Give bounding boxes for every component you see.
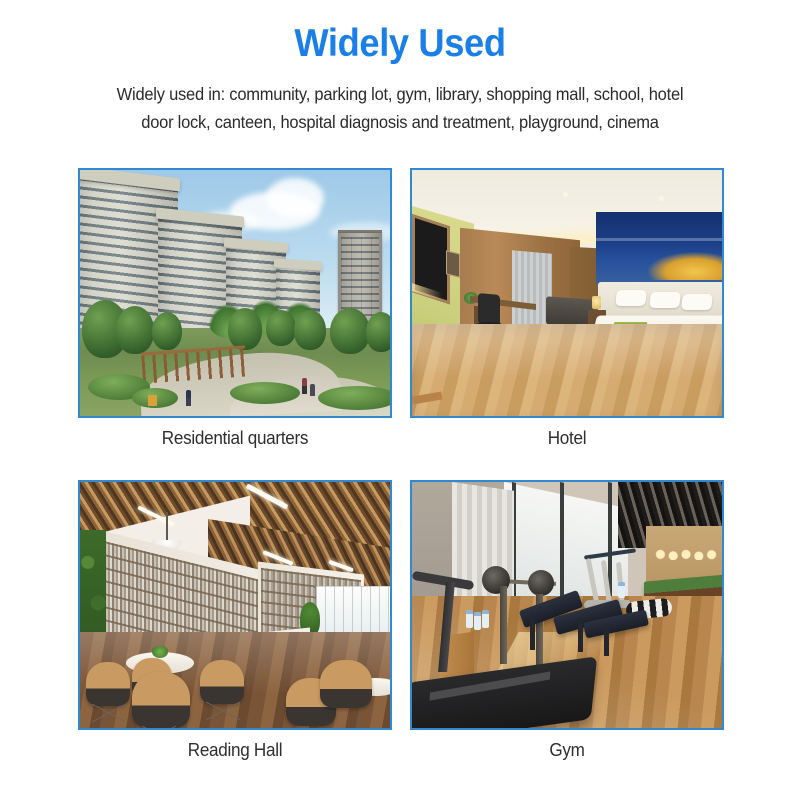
reading-chair	[200, 660, 244, 704]
cloud-icon	[266, 178, 324, 218]
tree	[228, 308, 262, 350]
person	[186, 390, 191, 406]
pillow	[615, 290, 647, 306]
residential-quarters-photo	[80, 170, 390, 416]
subtitle-line-1: Widely used in: community, parking lot, …	[64, 81, 736, 109]
bedside-lamp	[592, 296, 601, 309]
bench-leg	[530, 614, 535, 650]
reading-hall-photo	[80, 482, 390, 728]
water-bottle	[482, 610, 489, 628]
office-chair	[478, 293, 500, 325]
planter	[148, 395, 157, 406]
armchair	[546, 296, 594, 327]
pillow	[681, 294, 713, 310]
tree	[266, 310, 296, 346]
application-gallery: Residential quarters	[78, 168, 724, 761]
hedge	[318, 386, 390, 410]
gallery-caption-reading-hall: Reading Hall	[86, 740, 384, 761]
page-subtitle: Widely used in: community, parking lot, …	[64, 81, 736, 137]
reading-chair	[132, 672, 190, 728]
framed-picture	[446, 250, 460, 277]
person	[310, 384, 315, 396]
photo-frame[interactable]	[78, 480, 392, 730]
chair-legs	[92, 704, 126, 722]
water-bottle	[466, 610, 473, 628]
pendant-lights	[654, 546, 718, 560]
downlight-icon	[658, 196, 665, 201]
chair-legs	[142, 726, 176, 728]
person	[302, 378, 307, 394]
window	[316, 586, 390, 638]
tree	[330, 308, 370, 354]
reading-chair	[86, 662, 130, 706]
subtitle-line-2: door lock, canteen, hospital diagnosis a…	[64, 109, 736, 137]
gallery-row-1: Residential quarters	[78, 168, 724, 449]
product-feature-page: Widely Used Widely used in: community, p…	[0, 0, 800, 800]
hedge	[230, 382, 300, 404]
gallery-card-gym[interactable]: Gym	[410, 480, 724, 761]
gallery-card-hotel[interactable]: Hotel	[410, 168, 724, 449]
gallery-row-2: Reading Hall	[78, 480, 724, 761]
gallery-caption-hotel: Hotel	[418, 428, 716, 449]
gallery-card-residential[interactable]: Residential quarters	[78, 168, 392, 449]
tree	[152, 312, 182, 350]
gallery-caption-gym: Gym	[418, 740, 716, 761]
gym-photo	[412, 482, 722, 728]
wall-artwork	[596, 212, 722, 284]
page-title: Widely Used	[28, 22, 772, 67]
tree	[366, 312, 390, 352]
weight-plate	[528, 570, 554, 596]
page-header: Widely Used Widely used in: community, p…	[0, 0, 800, 137]
squat-rack-post	[500, 586, 507, 664]
photo-frame[interactable]	[410, 480, 724, 730]
bench-leg	[604, 626, 609, 656]
bench-leg	[578, 618, 583, 652]
water-bottle	[474, 612, 481, 630]
water-bottle	[618, 582, 625, 598]
floor-reflection	[412, 324, 722, 416]
photo-frame[interactable]	[78, 168, 392, 418]
reading-chair	[320, 660, 372, 708]
table-plant	[152, 646, 168, 658]
gallery-card-reading-hall[interactable]: Reading Hall	[78, 480, 392, 761]
tree	[294, 310, 326, 350]
hotel-room-photo	[412, 170, 722, 416]
photo-frame[interactable]	[410, 168, 724, 418]
gallery-caption-residential: Residential quarters	[86, 428, 384, 449]
tree	[116, 306, 154, 354]
pillow	[649, 292, 681, 308]
chair-legs	[206, 702, 240, 720]
downlight-icon	[562, 192, 569, 197]
pendant-cord	[166, 512, 168, 542]
